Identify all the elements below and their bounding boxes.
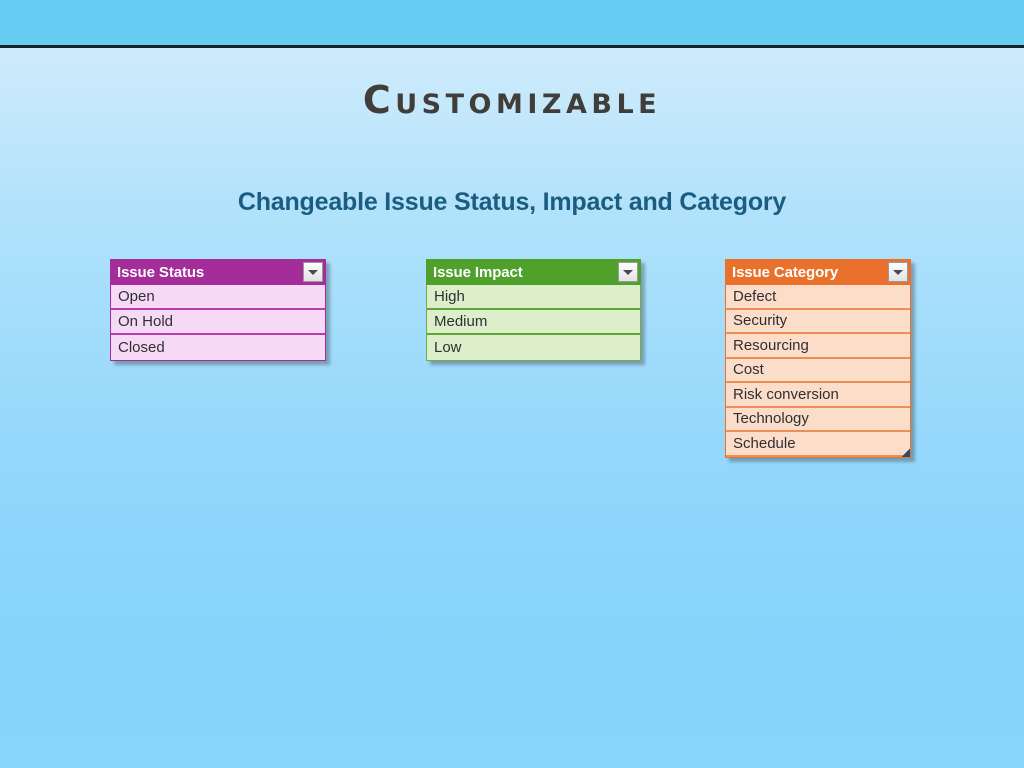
dropdown-label-issue-impact: Issue Impact [433, 264, 523, 281]
dropdown-label-issue-status: Issue Status [117, 264, 204, 281]
list-item[interactable]: Cost [726, 359, 910, 384]
dropdown-list-issue-status[interactable]: Open On Hold Closed [110, 285, 326, 361]
dropdown-issue-status[interactable]: Issue Status Open On Hold Closed [110, 259, 326, 361]
page-title: Customizable [0, 76, 1024, 124]
list-item[interactable]: Closed [111, 335, 325, 360]
list-item[interactable]: Schedule [726, 432, 910, 457]
page-subtitle: Changeable Issue Status, Impact and Cate… [0, 186, 1024, 218]
dropdown-issue-impact[interactable]: Issue Impact High Medium Low [426, 259, 641, 361]
list-item[interactable]: High [427, 285, 640, 310]
list-item[interactable]: Low [427, 335, 640, 360]
list-item[interactable]: Medium [427, 310, 640, 335]
list-item[interactable]: Risk conversion [726, 383, 910, 408]
dropdown-label-issue-category: Issue Category [732, 264, 838, 281]
list-item[interactable]: Technology [726, 408, 910, 433]
list-item[interactable]: Defect [726, 285, 910, 310]
list-item[interactable]: Open [111, 285, 325, 310]
list-item[interactable]: Resourcing [726, 334, 910, 359]
dropdown-list-issue-impact[interactable]: High Medium Low [426, 285, 641, 361]
dropdown-header-issue-status[interactable]: Issue Status [110, 259, 326, 285]
dropdown-header-issue-category[interactable]: Issue Category [725, 259, 911, 285]
dropdown-header-issue-impact[interactable]: Issue Impact [426, 259, 641, 285]
dropdown-issue-category[interactable]: Issue Category Defect Security Resourcin… [725, 259, 911, 458]
top-color-band [0, 0, 1024, 45]
chevron-down-icon[interactable] [303, 262, 323, 282]
dropdown-list-issue-category[interactable]: Defect Security Resourcing Cost Risk con… [725, 285, 911, 458]
resize-handle-icon[interactable] [902, 449, 910, 457]
slide-canvas: Customizable Changeable Issue Status, Im… [0, 0, 1024, 768]
chevron-down-icon[interactable] [888, 262, 908, 282]
list-item[interactable]: On Hold [111, 310, 325, 335]
chevron-down-icon[interactable] [618, 262, 638, 282]
list-item[interactable]: Security [726, 310, 910, 335]
